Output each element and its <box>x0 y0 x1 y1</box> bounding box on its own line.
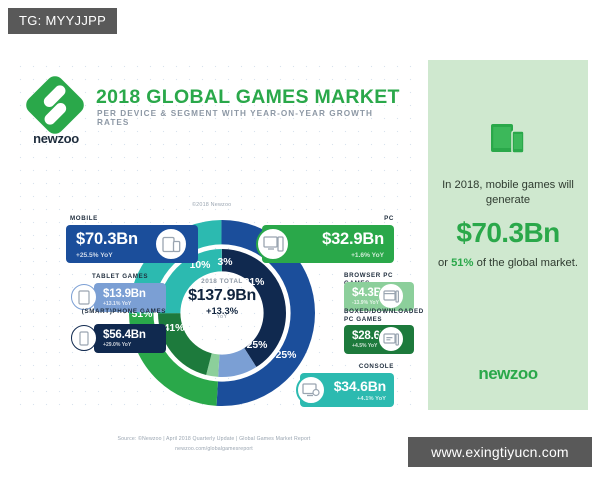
tablet-icon <box>71 284 97 310</box>
inner-label-phone: 41% <box>164 323 185 334</box>
phone-icon <box>71 325 97 351</box>
source-line-2: newzoo.com/globalgamesreport <box>14 445 414 455</box>
source-note: Source: ©Newzoo | April 2018 Quarterly U… <box>14 435 414 455</box>
tablet-phone-icon <box>490 122 526 160</box>
total-label: 2018 TOTAL <box>177 279 267 286</box>
highlight-share-accent: 51% <box>451 257 473 269</box>
outer-label-console: 25% <box>276 350 297 361</box>
browser-pc-icon <box>378 283 404 309</box>
inner-label-console: 25% <box>247 340 268 351</box>
infographic-header: newzoo 2018 GLOBAL GAMES MARKET PER DEVI… <box>22 82 406 140</box>
label-phone: (SMART)PHONE GAMES <box>74 308 166 316</box>
phone-value: $56.4Bn <box>103 329 166 341</box>
highlight-line-1: In 2018, mobile games will generate <box>435 178 581 208</box>
label-tablet: TABLET GAMES <box>92 273 148 281</box>
highlight-line-2-post: of the global market. <box>473 257 577 269</box>
panel-newzoo-logo: newzoo <box>428 364 588 384</box>
total-growth-unit: YoY <box>177 315 267 321</box>
total-value: $137.9Bn <box>177 288 267 305</box>
highlight-line-2: or 51% of the global market. <box>438 256 578 271</box>
watermark-url: www.exingtiyucn.com <box>408 437 592 467</box>
boxed-pc-icon <box>378 326 404 352</box>
newzoo-logo-wordmark: newzoo <box>24 131 88 146</box>
donut-center-total: 2018 TOTAL $137.9Bn +13.3% YoY <box>177 279 267 321</box>
label-boxed: BOXED/DOWNLOADED PC GAMES <box>344 308 410 325</box>
source-line-1: Source: ©Newzoo | April 2018 Quarterly U… <box>14 435 414 445</box>
inner-label-browser: 3% <box>217 257 232 268</box>
console-screen-icon <box>296 375 326 405</box>
desktop-icon <box>256 227 290 261</box>
label-mobile: MOBILE <box>70 215 98 223</box>
label-console: CONSOLE <box>300 363 394 371</box>
phone-yoy: +29.0% YoY <box>103 342 166 348</box>
tablet-phone-icon <box>154 227 188 261</box>
screenshot-root: TG: MYYJJPP newzoo 2018 GLOBAL GAMES MAR… <box>0 0 600 480</box>
infographic-card: newzoo 2018 GLOBAL GAMES MARKET PER DEVI… <box>14 60 414 410</box>
pc-yoy: +1.6% YoY <box>276 252 394 259</box>
highlight-big-value: $70.3Bn <box>456 217 559 249</box>
callout-phone: $56.4Bn +29.0% YoY <box>94 324 166 353</box>
tablet-value: $13.9Bn <box>103 288 166 300</box>
copyright-note: ©2018 Newzoo <box>192 202 231 208</box>
page-title: 2018 GLOBAL GAMES MARKET <box>96 86 400 109</box>
tg-tag: TG: MYYJJPP <box>8 8 117 34</box>
highlight-panel: In 2018, mobile games will generate $70.… <box>428 60 588 410</box>
newzoo-logo-icon <box>22 72 87 137</box>
page-subtitle: PER DEVICE & SEGMENT WITH YEAR-ON-YEAR G… <box>97 109 406 127</box>
highlight-line-2-pre: or <box>438 257 451 269</box>
tablet-yoy: +13.1% YoY <box>103 301 166 307</box>
pc-value: $32.9Bn <box>276 230 394 249</box>
label-pc: PC <box>294 215 394 223</box>
